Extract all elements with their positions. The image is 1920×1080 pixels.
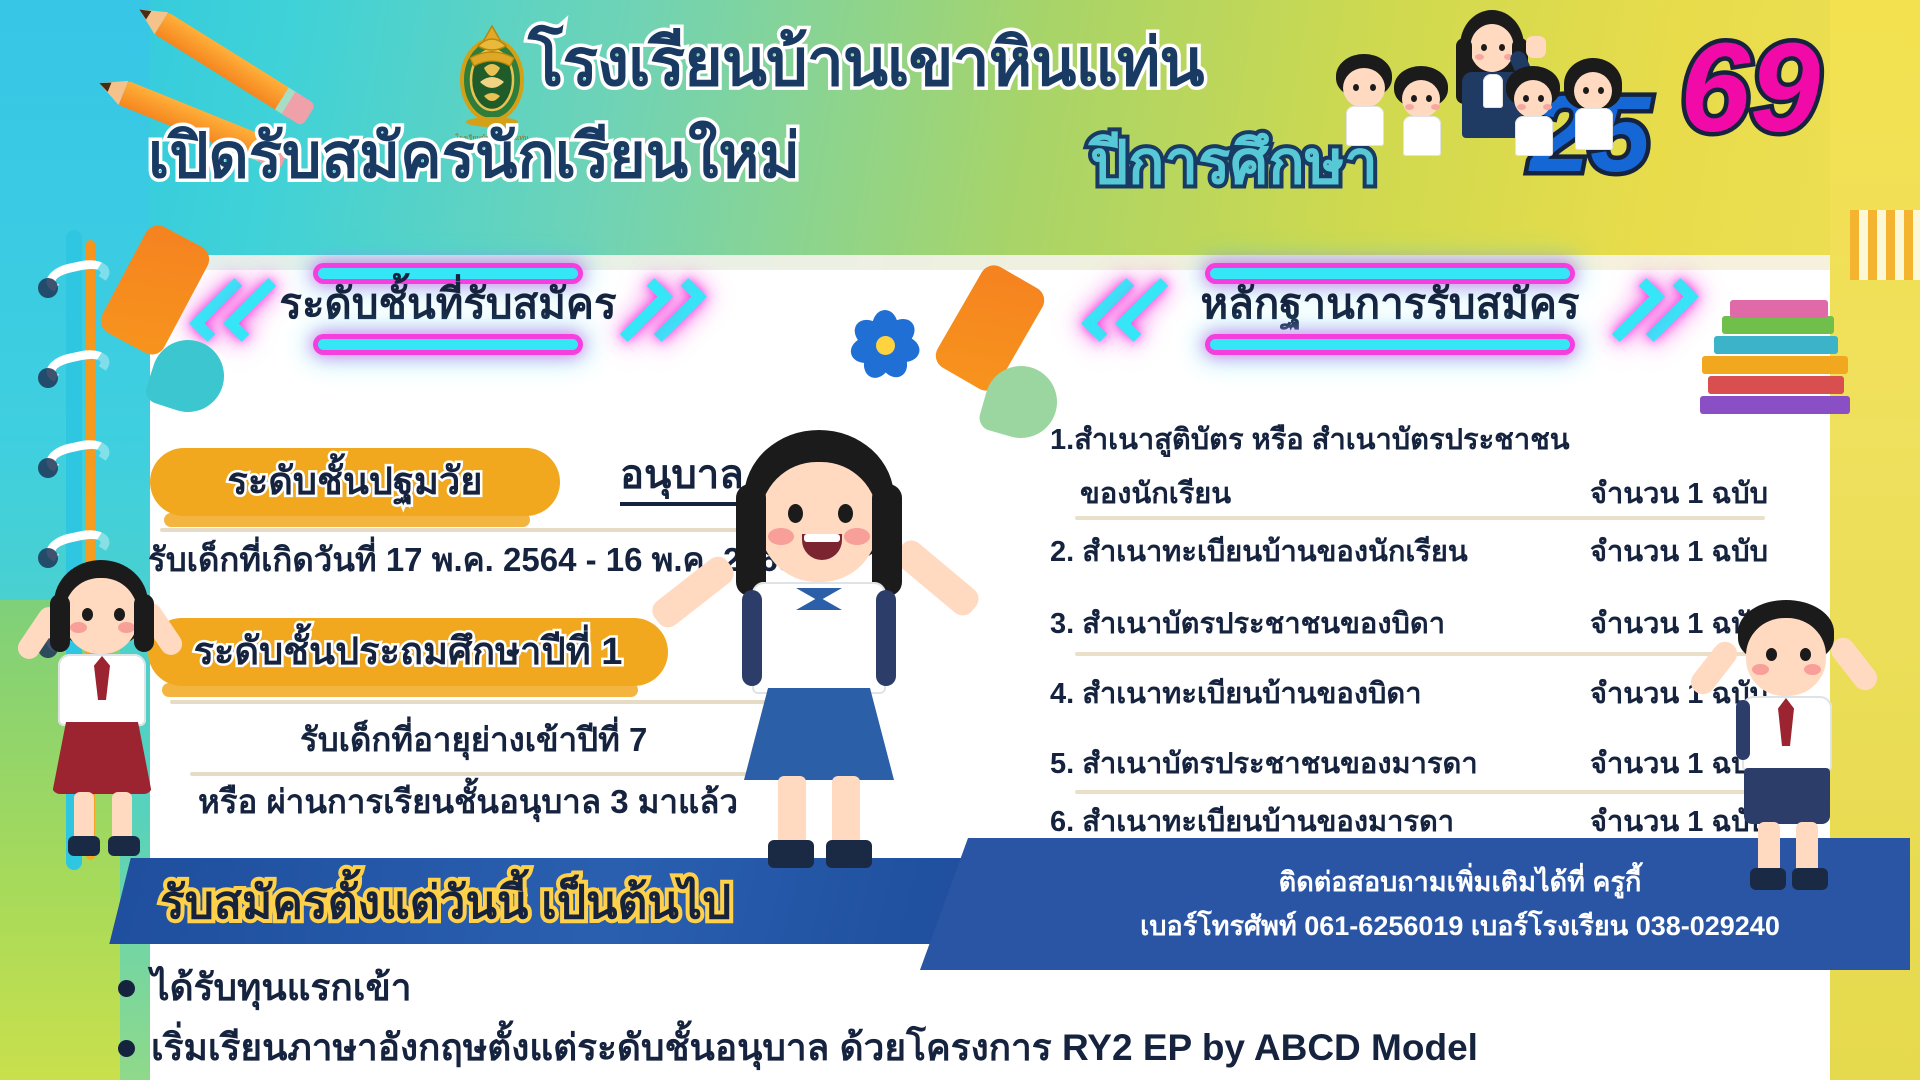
document-label: 4. สำเนาทะเบียนบ้านของบิดา xyxy=(1050,672,1422,716)
skirt-blue xyxy=(744,688,894,780)
document-divider xyxy=(1075,652,1765,656)
document-label: 1.สำเนาสูติบัตร หรือ สำเนาบัตรประชาชน xyxy=(1050,418,1570,462)
eye xyxy=(114,608,125,621)
eye xyxy=(1766,648,1777,661)
document-text: สำเนาทะเบียนบ้านของบิดา xyxy=(1082,678,1421,710)
document-number: 1. xyxy=(1050,424,1074,456)
leg xyxy=(832,776,860,848)
shoe xyxy=(68,836,100,856)
cheek xyxy=(70,622,87,633)
right-section-heading: หลักฐานการรับสมัคร xyxy=(1090,262,1690,358)
document-number: 6. xyxy=(1050,806,1074,838)
boy-right-illustration xyxy=(1700,600,1890,900)
leg xyxy=(1758,822,1780,874)
eye xyxy=(1800,648,1811,661)
face xyxy=(64,578,138,654)
students-teacher-illustration xyxy=(1330,10,1630,160)
leg xyxy=(778,776,806,848)
primary-detail-line1: รับเด็กที่อายุย่างเข้าปีที่ 7 xyxy=(300,718,647,762)
headline-title: เปิดรับสมัครนักเรียนใหม่ xyxy=(148,110,1198,206)
document-row: 5. สำเนาบัตรประชาชนของมารดา จำนวน 1 ฉบับ xyxy=(1050,742,1810,786)
contact-line-2: เบอร์โทรศัพท์ 061-6256019 เบอร์โรงเรียน … xyxy=(1010,906,1910,946)
document-row: 2. สำเนาทะเบียนบ้านของนักเรียน จำนวน 1 ฉ… xyxy=(1050,530,1810,574)
kindergarten-pill: ระดับชั้นปฐมวัย xyxy=(150,448,560,516)
document-divider xyxy=(1075,790,1765,794)
cheek xyxy=(1752,664,1769,675)
eye xyxy=(788,504,803,523)
bullet-dot-icon xyxy=(118,980,135,997)
leg xyxy=(74,792,94,842)
book xyxy=(1722,316,1834,334)
bullet-dot-icon xyxy=(118,1040,135,1057)
face xyxy=(760,462,878,582)
shoe xyxy=(108,836,140,856)
spiral-hole xyxy=(38,278,58,298)
books-stack-icon xyxy=(1700,300,1850,420)
document-number: 2. xyxy=(1050,536,1074,568)
girl-left-illustration xyxy=(20,560,200,860)
cheek xyxy=(844,528,870,545)
document-text: สำเนาทะเบียนบ้านของนักเรียน xyxy=(1082,536,1467,568)
document-text: สำเนาบัตรประชาชนของบิดา xyxy=(1082,608,1445,640)
book xyxy=(1708,376,1844,394)
face xyxy=(1746,618,1826,696)
cheek xyxy=(1804,664,1821,675)
eye xyxy=(838,504,853,523)
girl-center-illustration xyxy=(690,430,970,880)
shorts xyxy=(1744,768,1830,824)
hair-side xyxy=(50,594,70,652)
document-qty: จำนวน 1 ฉบับ xyxy=(1590,472,1768,516)
cheek xyxy=(768,528,794,545)
spiral-hole xyxy=(38,458,58,478)
document-number: 4. xyxy=(1050,678,1074,710)
hair-side xyxy=(872,484,902,596)
document-row: 3. สำเนาบัตรประชาชนของบิดา จำนวน 1 ฉบับ xyxy=(1050,602,1810,646)
document-label: 3. สำเนาบัตรประชาชนของบิดา xyxy=(1050,602,1445,646)
backpack xyxy=(1736,700,1750,760)
neon-bar-bottom xyxy=(1210,339,1570,350)
flower-icon xyxy=(850,310,920,380)
benefit-text: ได้รับทุนแรกเข้า xyxy=(151,962,412,1014)
benefit-bullet-2: เริ่มเรียนภาษาอังกฤษตั้งแต่ระดับชั้นอนุบ… xyxy=(118,1022,1478,1074)
left-heading-text: ระดับชั้นที่รับสมัคร xyxy=(198,274,698,334)
document-number: 5. xyxy=(1050,748,1074,780)
shoe xyxy=(826,840,872,868)
benefit-bullet-1: ได้รับทุนแรกเข้า xyxy=(118,962,412,1014)
eye xyxy=(82,608,93,621)
shoe xyxy=(1750,868,1786,890)
right-heading-text: หลักฐานการรับสมัคร xyxy=(1090,274,1690,334)
hair-side xyxy=(736,484,766,596)
primary-pill: ระดับชั้นประถมศึกษาปีที่ 1 xyxy=(148,618,668,686)
book xyxy=(1700,396,1850,414)
leg xyxy=(1796,822,1818,874)
shoe xyxy=(1792,868,1828,890)
book xyxy=(1730,300,1828,318)
arm xyxy=(1826,633,1882,695)
benefit-text: เริ่มเรียนภาษาอังกฤษตั้งแต่ระดับชั้นอนุบ… xyxy=(151,1022,1478,1074)
document-label: 2. สำเนาทะเบียนบ้านของนักเรียน xyxy=(1050,530,1468,574)
kindergarten-pill-label: ระดับชั้นปฐมวัย xyxy=(227,459,482,505)
cheek xyxy=(118,622,135,633)
document-divider xyxy=(1075,516,1765,520)
document-text: สำเนาบัตรประชาชนของมารดา xyxy=(1082,748,1477,780)
school-name-title: โรงเรียนบ้านเขาหินแท่น xyxy=(528,18,1348,108)
book xyxy=(1714,336,1838,354)
document-label: 5. สำเนาบัตรประชาชนของมารดา xyxy=(1050,742,1478,786)
tooth xyxy=(804,534,840,542)
skirt xyxy=(52,722,152,794)
backpack xyxy=(742,590,762,686)
primary-pill-label: ระดับชั้นประถมศึกษาปีที่ 1 xyxy=(194,629,623,675)
pencil-icon xyxy=(155,12,296,114)
document-number: 3. xyxy=(1050,608,1074,640)
document-row-continued: ของนักเรียน จำนวน 1 ฉบับ xyxy=(1050,472,1810,516)
document-text: สำเนาสูติบัตร หรือ สำเนาบัตรประชาชน xyxy=(1074,424,1569,456)
document-text-continued: ของนักเรียน xyxy=(1080,472,1231,516)
leg xyxy=(112,792,132,842)
neon-bar-bottom xyxy=(318,339,578,350)
spiral-hole xyxy=(38,368,58,388)
poster-canvas: โรงเรียนบ้านเขาหินแท่น โรงเรียนบ้านเขาหิ… xyxy=(0,0,1920,1080)
backpack xyxy=(876,590,896,686)
book xyxy=(1702,356,1848,374)
document-row: 1.สำเนาสูติบัตร หรือ สำเนาบัตรประชาชน xyxy=(1050,418,1810,462)
shoe xyxy=(768,840,814,868)
document-qty: จำนวน 1 ฉบับ xyxy=(1590,530,1768,574)
arm xyxy=(891,536,984,621)
document-text: สำเนาทะเบียนบ้านของมารดา xyxy=(1082,806,1454,838)
left-section-heading: ระดับชั้นที่รับสมัคร xyxy=(198,262,698,358)
primary-detail-line2: หรือ ผ่านการเรียนชั้นอนุบาล 3 มาแล้ว xyxy=(198,780,738,824)
hair-side xyxy=(134,594,154,652)
year-suffix: 69 xyxy=(1680,28,1820,148)
poster-header: โรงเรียนบ้านเขาหินแท่น โรงเรียนบ้านเขาหิ… xyxy=(0,0,1920,265)
